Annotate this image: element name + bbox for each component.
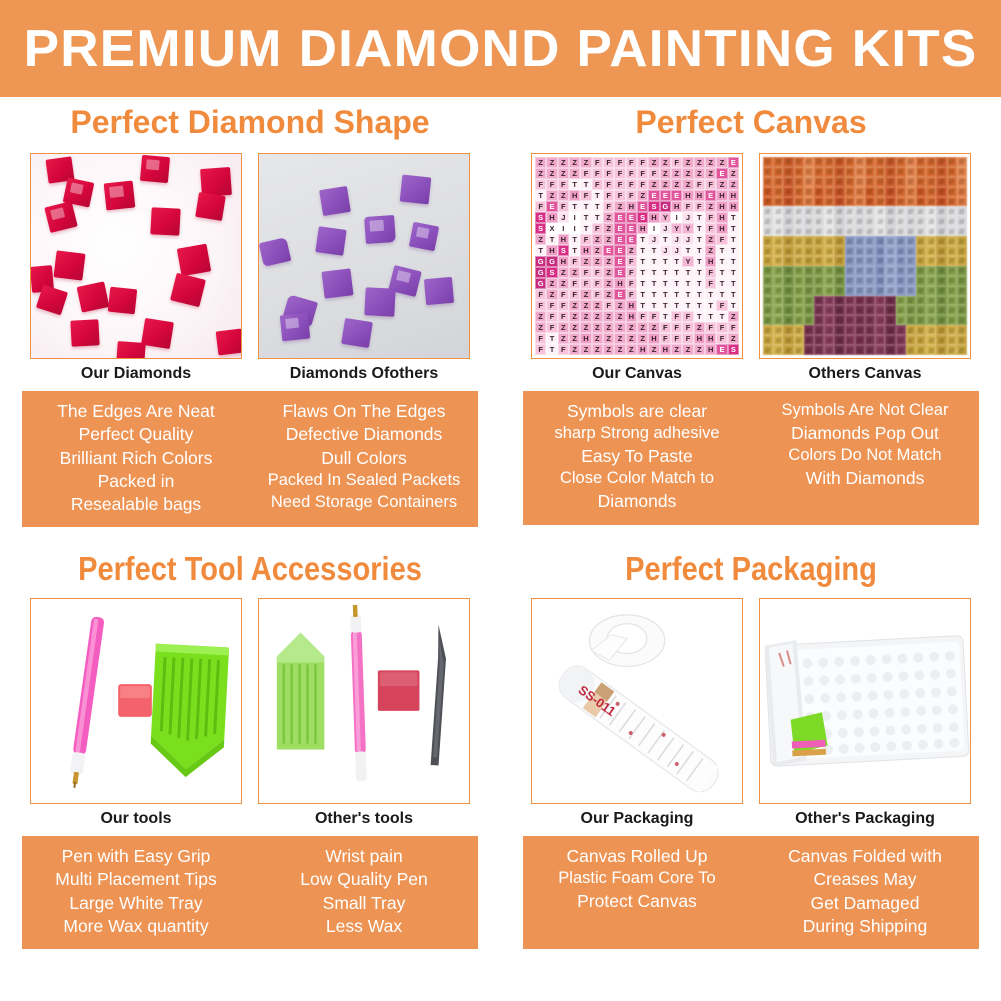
canvas-symbol-cell: Z [603,322,614,333]
canvas-symbol-cell: Z [569,322,580,333]
canvas-symbol-cell: Z [728,311,739,322]
canvas-symbol-cell: F [614,168,625,179]
canvas-symbol-cell: T [546,344,557,355]
other-tools-illustration [259,599,469,803]
other-canvas-cell [773,296,783,306]
canvas-symbol-cell: I [569,223,580,234]
canvas-symbol-cell: T [637,267,648,278]
other-canvas-cell [834,177,844,187]
other-canvas-cell [855,157,865,167]
canvas-symbol-cell: E [614,245,625,256]
canvas-symbol-cell: F [626,168,637,179]
other-canvas-cell [865,325,875,335]
canvas-symbol-cell: Z [682,168,693,179]
other-canvas-cell [804,286,814,296]
other-canvas-cell [845,216,855,226]
canvas-symbol-cell: Z [682,157,693,168]
other-canvas-cell [773,266,783,276]
canvas-symbol-cell: G [535,256,546,267]
canvas-symbol-cell: F [592,267,603,278]
canvas-symbol-cell: Z [558,322,569,333]
other-canvas-cell [947,315,957,325]
canvas-symbol-cell: H [580,245,591,256]
canvas-symbol-cell: E [614,212,625,223]
other-canvas-cell [773,315,783,325]
other-canvas-cell [885,206,895,216]
other-canvas-cell [794,256,804,266]
caption-our-diamonds: Our Diamonds [30,365,242,383]
canvas-symbol-cell: H [716,223,727,234]
canvas-symbol-cell: F [603,168,614,179]
canvas-symbol-cell: Z [546,190,557,201]
other-canvas-cell [896,266,906,276]
other-canvas-cell [763,335,773,345]
info-others-tools: Wrist pain Low Quality Pen Small Tray Le… [250,845,478,938]
other-canvas-cell [896,167,906,177]
other-canvas-cell [804,206,814,216]
other-canvas-cell [957,167,967,177]
other-canvas-cell [834,246,844,256]
info-line: During Shipping [755,915,975,938]
canvas-symbol-cell: H [637,223,648,234]
canvas-symbol-cell: F [716,333,727,344]
canvas-symbol-cell: F [682,201,693,212]
canvas-symbol-cell: E [626,223,637,234]
other-canvas-cell [804,276,814,286]
other-canvas-cell [957,276,967,286]
canvas-symbol-cell: F [535,201,546,212]
info-ours-diamond-shape: The Edges Are Neat Perfect Quality Brill… [22,400,250,516]
other-canvas-cell [773,246,783,256]
canvas-symbol-cell: F [626,256,637,267]
other-canvas-cell [936,305,946,315]
caption-other-canvas: Others Canvas [759,365,971,383]
canvas-symbol-cell: J [682,234,693,245]
other-canvas-cell [947,236,957,246]
other-canvas-cell [845,325,855,335]
canvas-symbol-cell: J [648,234,659,245]
other-canvas-cell [804,167,814,177]
canvas-symbol-cell: Z [671,179,682,190]
other-canvas-cell [783,236,793,246]
canvas-symbol-cell: Z [535,157,546,168]
canvas-symbol-cell: Z [592,322,603,333]
info-line: sharp Strong adhesive [527,423,747,445]
other-canvas-cell [885,256,895,266]
other-canvas-cell [824,157,834,167]
canvas-symbol-cell: Z [694,157,705,168]
info-line: Less Wax [254,915,474,938]
other-canvas-cell [865,256,875,266]
other-canvas-cell [824,216,834,226]
canvas-symbol-cell: Z [546,157,557,168]
other-canvas-cell [824,286,834,296]
canvas-symbol-cell: H [546,245,557,256]
caption-our-canvas: Our Canvas [531,365,743,383]
other-canvas-cell [947,246,957,256]
canvas-symbol-cell: F [728,322,739,333]
other-canvas-cell [855,296,865,306]
other-canvas-cell [875,266,885,276]
canvas-symbol-cell: E [705,190,716,201]
other-canvas-cell [957,246,967,256]
other-canvas-cell [947,286,957,296]
canvas-symbol-cell: T [535,245,546,256]
other-canvas-cell [885,296,895,306]
info-line: Dull Colors [254,447,474,470]
other-canvas-cell [947,157,957,167]
other-canvas-cell [957,256,967,266]
canvas-symbol-cell: H [671,201,682,212]
other-canvas-cell [845,157,855,167]
canvas-symbol-cell: T [682,278,693,289]
other-canvas-cell [916,206,926,216]
other-canvas-cell [936,216,946,226]
canvas-symbol-cell: F [626,190,637,201]
our-diamonds-photo [30,153,242,359]
other-canvas-cell [845,315,855,325]
other-canvas-cell [875,177,885,187]
other-canvas-cell [834,157,844,167]
other-canvas-cell [906,305,916,315]
other-canvas-cell [794,157,804,167]
canvas-symbol-cell: F [682,322,693,333]
other-canvas-cell [875,276,885,286]
canvas-symbol-cell: I [671,212,682,223]
other-canvas-cell [906,296,916,306]
canvas-symbol-cell: T [694,256,705,267]
other-canvas-cell [773,345,783,355]
canvas-symbol-cell: T [637,256,648,267]
other-canvas-cell [865,296,875,306]
other-canvas-cell [783,276,793,286]
canvas-symbol-cell: Z [558,157,569,168]
other-canvas-cell [896,246,906,256]
canvas-symbol-cell: T [694,311,705,322]
other-canvas-cell [814,246,824,256]
canvas-symbol-cell: Z [716,157,727,168]
canvas-symbol-cell: F [716,300,727,311]
other-canvas-cell [783,216,793,226]
canvas-symbol-cell: J [660,223,671,234]
canvas-symbol-cell: F [671,157,682,168]
canvas-symbol-cell: E [614,223,625,234]
other-canvas-cell [855,266,865,276]
other-canvas-cell [814,305,824,315]
canvas-symbol-cell: Z [671,344,682,355]
canvas-symbol-cell: F [546,311,557,322]
canvas-symbol-cell: Z [558,168,569,179]
canvas-symbol-cell: Z [603,212,614,223]
canvas-symbol-cell: Z [592,245,603,256]
canvas-symbol-cell: S [535,212,546,223]
other-canvas-cell [814,256,824,266]
canvas-symbol-cell: E [614,289,625,300]
other-canvas-cell [773,286,783,296]
canvas-symbol-cell: T [637,289,648,300]
other-canvas-cell [947,266,957,276]
canvas-symbol-cell: F [580,168,591,179]
other-canvas-cell [936,246,946,256]
other-canvas-cell [957,236,967,246]
other-canvas-cell [906,216,916,226]
other-canvas-cell [783,266,793,276]
other-canvas-photo [759,153,971,359]
other-canvas-cell [936,256,946,266]
other-canvas-cell [763,325,773,335]
other-canvas-cell [763,286,773,296]
other-canvas-cell [865,206,875,216]
other-canvas-cell [804,197,814,207]
other-canvas-cell [855,177,865,187]
canvas-symbol-cell: F [648,311,659,322]
canvas-symbol-cell: F [569,278,580,289]
canvas-symbol-cell: H [728,190,739,201]
other-canvas-cell [896,305,906,315]
other-canvas-cell [906,345,916,355]
caption-our-tools: Our tools [30,810,242,828]
other-canvas-cell [885,276,895,286]
page-title: PREMIUM DIAMOND PAINTING KITS [24,19,978,79]
canvas-symbol-cell: T [705,300,716,311]
canvas-symbol-cell: T [660,311,671,322]
canvas-symbol-cell: Z [705,168,716,179]
canvas-symbol-cell: F [580,190,591,201]
canvas-symbol-cell: Y [682,223,693,234]
canvas-symbol-cell: Z [603,223,614,234]
other-canvas-cell [773,216,783,226]
other-canvas-cell [783,167,793,177]
other-canvas-cell [906,325,916,335]
other-canvas-cell [936,286,946,296]
canvas-symbol-cell: T [637,245,648,256]
canvas-symbol-cell: T [705,289,716,300]
canvas-symbol-cell: Z [728,168,739,179]
canvas-symbol-cell: Z [569,267,580,278]
other-canvas-cell [845,335,855,345]
other-canvas-cell [804,187,814,197]
other-canvas-cell [763,167,773,177]
info-line: Defective Diamonds [254,423,474,446]
other-canvas-cell [783,206,793,216]
canvas-symbol-cell: F [592,157,603,168]
other-canvas-cell [957,325,967,335]
canvas-symbol-cell: F [546,300,557,311]
info-line: Canvas Rolled Up [527,845,747,868]
other-canvas-cell [804,345,814,355]
canvas-symbol-cell: F [569,289,580,300]
other-canvas-cell [936,276,946,286]
other-canvas-cell [865,167,875,177]
canvas-symbol-cell: F [614,190,625,201]
other-canvas-cell [814,236,824,246]
other-canvas-cell [906,206,916,216]
canvas-symbol-cell: F [592,168,603,179]
other-canvas-cell [926,206,936,216]
info-line: Need Storage Containers [254,492,474,514]
other-canvas-cell [855,226,865,236]
canvas-symbol-cell: Z [603,234,614,245]
info-line: Packed in [26,470,246,493]
canvas-symbol-cell: F [580,267,591,278]
info-line: Pen with Easy Grip [26,845,246,868]
other-canvas-cell [763,276,773,286]
other-canvas-cell [865,236,875,246]
canvas-symbol-cell: Z [569,157,580,168]
canvas-symbol-cell: Z [580,256,591,267]
info-line: Symbols are clear [527,400,747,423]
canvas-symbol-cell: H [716,212,727,223]
other-canvas-cell [814,206,824,216]
other-canvas-cell [855,325,865,335]
canvas-symbol-cell: E [637,201,648,212]
canvas-symbol-cell: F [626,289,637,300]
canvas-symbol-cell: T [648,300,659,311]
canvas-symbol-cell: E [728,157,739,168]
other-canvas-cell [763,216,773,226]
other-canvas-cell [814,197,824,207]
other-canvas-cell [763,266,773,276]
canvas-symbol-cell: Z [626,245,637,256]
canvas-symbol-cell: H [694,333,705,344]
canvas-symbol-cell: F [660,333,671,344]
other-canvas-cell [885,216,895,226]
canvas-symbol-cell: H [648,333,659,344]
info-line: Close Color Match to [527,468,747,490]
canvas-symbol-cell: H [626,300,637,311]
info-line: Large White Tray [26,892,246,915]
canvas-symbol-cell: T [694,245,705,256]
other-canvas-cell [875,345,885,355]
canvas-symbol-cell: T [637,278,648,289]
other-canvas-cell [783,296,793,306]
canvas-symbol-cell: Z [603,278,614,289]
other-canvas-cell [804,246,814,256]
other-canvas-cell [926,157,936,167]
canvas-symbol-cell: F [694,179,705,190]
other-canvas-cell [763,197,773,207]
other-canvas-cell [885,246,895,256]
canvas-symbol-cell: Z [569,300,580,311]
canvas-symbol-cell: T [694,223,705,234]
canvas-symbol-cell: F [546,179,557,190]
canvas-symbol-cell: F [626,157,637,168]
other-canvas-cell [845,197,855,207]
other-canvas-cell [957,266,967,276]
info-panel-packaging: Canvas Rolled Up Plastic Foam Core To Pr… [523,836,979,949]
other-canvas-cell [875,226,885,236]
canvas-symbol-cell: T [580,212,591,223]
canvas-symbol-cell: Z [592,311,603,322]
canvas-symbol-cell: T [682,267,693,278]
other-canvas-cell [875,216,885,226]
canvas-symbol-cell: Z [648,344,659,355]
canvas-symbol-cell: E [626,234,637,245]
canvas-symbol-cell: Z [682,179,693,190]
other-canvas-cell [906,276,916,286]
other-canvas-cell [906,197,916,207]
other-canvas-cell [783,256,793,266]
canvas-symbol-cell: T [660,278,671,289]
canvas-symbol-cell: F [648,168,659,179]
other-canvas-cell [804,335,814,345]
other-canvas-cell [865,286,875,296]
canvas-symbol-cell: T [637,234,648,245]
other-tools-photo [258,598,470,804]
info-others-packaging: Canvas Folded with Creases May Get Damag… [751,845,979,938]
canvas-symbol-cell: F [558,289,569,300]
other-canvas-cell [855,345,865,355]
info-others-canvas: Symbols Are Not Clear Diamonds Pop Out C… [751,400,979,514]
other-canvas-cell [936,157,946,167]
canvas-symbol-cell: Z [614,344,625,355]
other-canvas-cell [845,206,855,216]
canvas-symbol-cell: Z [648,179,659,190]
canvas-symbol-cell: F [705,179,716,190]
other-canvas-cell [896,335,906,345]
other-canvas-cell [896,216,906,226]
canvas-symbol-cell: Z [626,322,637,333]
other-canvas-cell [794,305,804,315]
canvas-symbol-cell: T [660,256,671,267]
other-canvas-cell [957,315,967,325]
other-canvas-cell [875,157,885,167]
other-canvas-cell [773,157,783,167]
other-canvas-cell [763,157,773,167]
other-canvas-cell [763,296,773,306]
canvas-symbol-cell: H [716,190,727,201]
canvas-symbol-cell: J [671,245,682,256]
other-canvas-cell [773,197,783,207]
other-canvas-cell [855,286,865,296]
canvas-symbol-cell: F [603,157,614,168]
other-canvas-cell [865,315,875,325]
canvas-symbol-cell: H [716,201,727,212]
other-canvas-cell [957,286,967,296]
canvas-symbol-cell: T [728,245,739,256]
other-canvas-cell [814,325,824,335]
other-canvas-cell [865,216,875,226]
other-canvas-cell [834,296,844,306]
canvas-symbol-cell: Z [603,344,614,355]
other-canvas-cell [875,305,885,315]
other-canvas-cell [855,167,865,177]
canvas-symbol-cell: T [592,201,603,212]
caption-other-diamonds: Diamonds Ofothers [258,365,470,383]
other-canvas-cell [916,167,926,177]
other-canvas-cell [773,335,783,345]
other-canvas-cell [845,345,855,355]
other-canvas-cell [845,177,855,187]
canvas-symbol-cell: Z [592,234,603,245]
canvas-symbol-cell: T [716,289,727,300]
canvas-symbol-cell: F [535,179,546,190]
section-title-canvas: Perfect Canvas [501,104,1001,141]
info-line: Brilliant Rich Colors [26,447,246,470]
other-canvas-cell [885,236,895,246]
other-canvas-cell [916,216,926,226]
other-canvas-cell [773,206,783,216]
other-canvas-cell [794,226,804,236]
canvas-symbol-cell: G [535,267,546,278]
other-canvas-cell [824,305,834,315]
other-canvas-cell [794,246,804,256]
our-tools-illustration [31,599,241,803]
other-canvas-cell [916,335,926,345]
other-canvas-cell [804,296,814,306]
other-canvas-cell [804,305,814,315]
other-canvas-cell [875,197,885,207]
